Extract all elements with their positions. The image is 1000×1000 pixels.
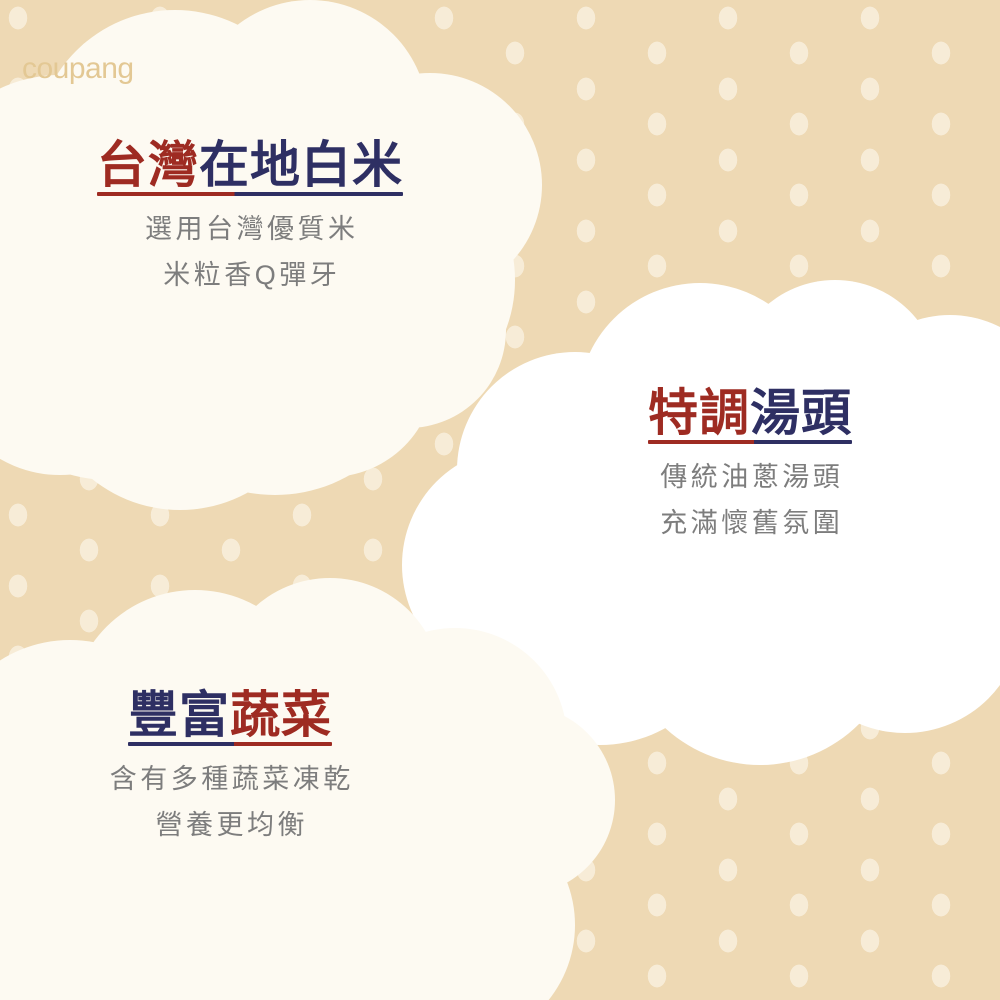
- headline-veggie-navy: 豐富: [128, 687, 230, 743]
- feature-card-broth: 特調湯頭 傳統油蔥湯頭 充滿懷舊氛圍: [575, 388, 925, 547]
- headline-veggie-red: 蔬菜: [230, 687, 332, 743]
- headline-broth-navy: 湯頭: [750, 385, 852, 441]
- body-rice-line-1: 選用台灣優質米: [40, 206, 460, 252]
- headline-rice: 台灣在地白米: [97, 140, 403, 206]
- body-broth-line-2: 充滿懷舊氛圍: [575, 500, 925, 546]
- body-broth-line-1: 傳統油蔥湯頭: [575, 454, 925, 500]
- headline-broth: 特調湯頭: [648, 388, 852, 454]
- headline-veggie-text: 豐富蔬菜: [128, 690, 332, 756]
- headline-rice-navy: 在地白米: [199, 137, 403, 193]
- feature-card-rice: 台灣在地白米 選用台灣優質米 米粒香Q彈牙: [40, 140, 460, 299]
- poster-canvas: coupang 台灣在地白米 選用台灣優質米 米粒香Q彈牙 特調湯頭 傳統油蔥湯…: [0, 0, 1000, 1000]
- headline-broth-red: 特調: [648, 385, 750, 441]
- body-rice-line-2: 米粒香Q彈牙: [40, 252, 460, 298]
- headline-broth-text: 特調湯頭: [648, 388, 852, 454]
- body-veggie-line-1: 含有多種蔬菜凍乾: [20, 756, 440, 802]
- headline-veggie: 豐富蔬菜: [128, 690, 332, 756]
- feature-card-veggie: 豐富蔬菜 含有多種蔬菜凍乾 營養更均衡: [20, 690, 440, 849]
- headline-rice-red: 台灣: [97, 137, 199, 193]
- body-veggie-line-2: 營養更均衡: [20, 802, 440, 848]
- coupang-logo: coupang: [22, 52, 134, 86]
- headline-rice-text: 台灣在地白米: [97, 140, 403, 206]
